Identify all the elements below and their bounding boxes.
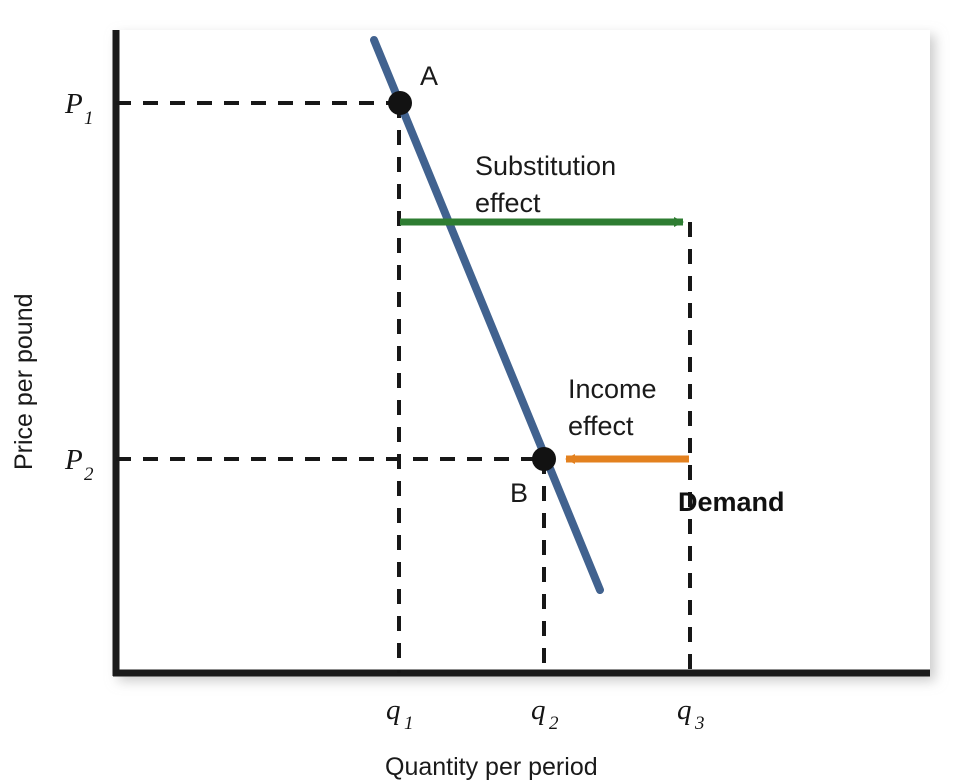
p2-tick-label: P <box>64 444 83 476</box>
substitution-income-effect-chart: A B Substitution effect Income effect De… <box>0 0 973 784</box>
q2-tick-label: q <box>531 694 546 726</box>
q2-tick-subscript: 2 <box>549 713 559 734</box>
plot-area-background <box>113 30 930 676</box>
y-axis-title: Price per pound <box>10 293 38 470</box>
substitution-effect-label-line2: effect <box>475 188 541 218</box>
q3-tick-label: q <box>677 694 692 726</box>
p1-tick-subscript: 1 <box>84 108 94 129</box>
income-effect-label-line1: Income <box>568 374 657 404</box>
x-axis-title: Quantity per period <box>385 753 598 781</box>
point-b-marker <box>532 447 556 471</box>
point-a-label: A <box>420 61 438 91</box>
point-a-marker <box>388 91 412 115</box>
q3-tick-subscript: 3 <box>694 713 705 734</box>
income-effect-label-line2: effect <box>568 411 634 441</box>
p1-tick-label: P <box>64 88 83 120</box>
substitution-effect-label-line1: Substitution <box>475 151 616 181</box>
point-b-label: B <box>510 478 528 508</box>
figure-container: A B Substitution effect Income effect De… <box>0 0 973 784</box>
q1-tick-subscript: 1 <box>404 713 414 734</box>
q1-tick-label: q <box>386 694 401 726</box>
p2-tick-subscript: 2 <box>84 464 94 485</box>
demand-curve-label: Demand <box>678 487 785 517</box>
